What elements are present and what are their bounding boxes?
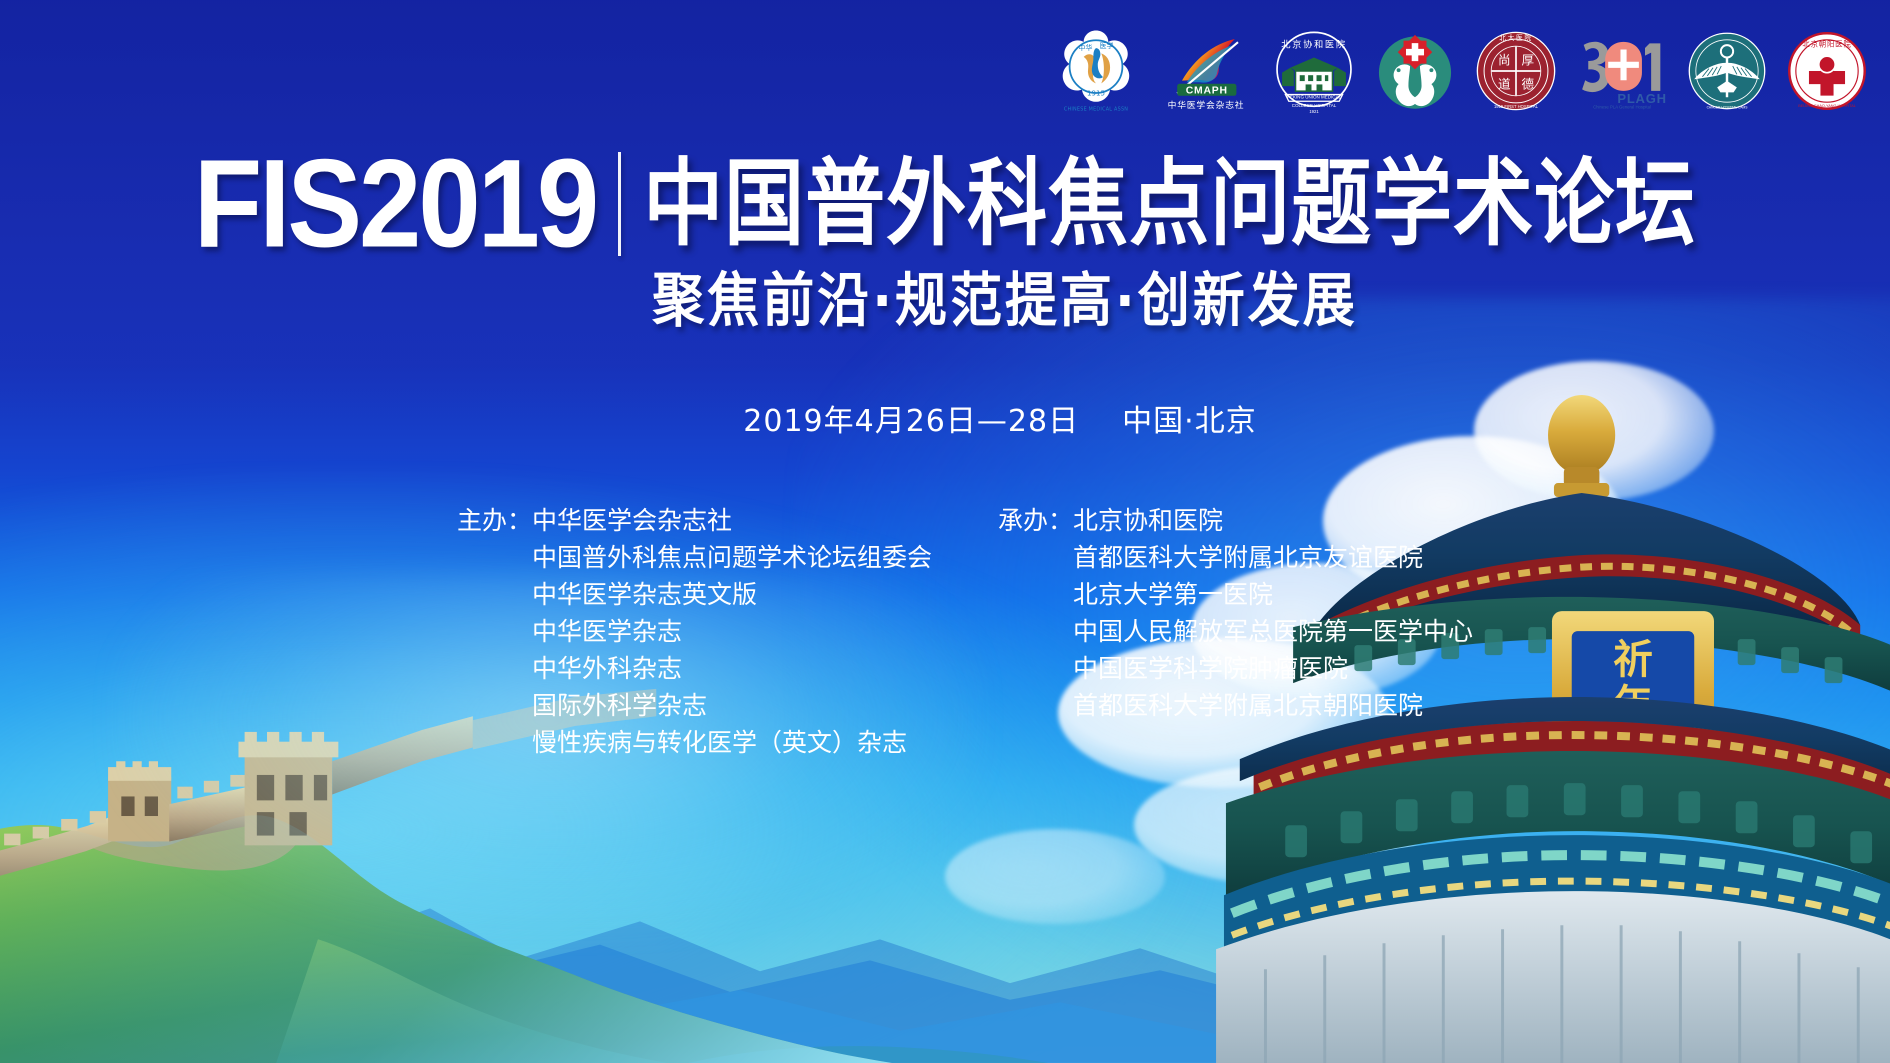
organizer-block: 主办： 中华医学会杂志社 中国普外科焦点问题学术论坛组委会 中华医学杂志英文版 …: [0, 502, 1890, 761]
list-item: 中华医学会杂志社: [532, 502, 932, 539]
svg-text:北京协和医院: 北京协和医院: [1281, 38, 1347, 50]
logo-beijing-friendship-hospital: [1374, 30, 1456, 112]
pkufh-icon: 尚 厚 道 德 北大医院 1915 FIRST HOSPITAL: [1474, 29, 1558, 113]
pumch-icon: 北京协和医院 PEKING UNION MEDICAL COLLEGE HOSP…: [1272, 27, 1356, 115]
list-item: 首都医科大学附属北京友谊医院: [1073, 539, 1473, 576]
conference-date-location: 2019年4月26日—28日 中国·北京: [0, 396, 1890, 440]
list-item: 首都医科大学附属北京朝阳医院: [1073, 687, 1473, 724]
conference-acronym: FIS2019: [194, 141, 618, 266]
svg-text:1915: 1915: [1087, 89, 1105, 98]
title-row: FIS2019 中国普外科焦点问题学术论坛: [0, 148, 1890, 260]
list-item: 中华医学杂志英文版: [532, 576, 932, 613]
sponsor-logo-strip: 1915 中华 医学 CHINESE MEDICAL ASSN: [1052, 27, 1868, 115]
svg-text:1915 FIRST HOSPITAL: 1915 FIRST HOSPITAL: [1494, 104, 1539, 109]
list-item: 国际外科学杂志: [532, 687, 932, 724]
logo-beijing-chaoyang-hospital: 北京朝阳医院 BEIJING CHAO-YANG HOSPITAL: [1786, 30, 1868, 112]
list-item: 中国普外科焦点问题学术论坛组委会: [532, 539, 932, 576]
list-item: 中国医学科学院肿瘤医院: [1073, 650, 1473, 687]
conference-title-cn: 中国普外科焦点问题学术论坛: [643, 157, 1696, 251]
logo-plagh-301: PLAGH Chinese PLA General Hospital: [1576, 30, 1668, 112]
chinese-medical-association-icon: 1915 中华 医学 CHINESE MEDICAL ASSN: [1052, 27, 1140, 115]
host-column: 主办： 中华医学会杂志社 中国普外科焦点问题学术论坛组委会 中华医学杂志英文版 …: [457, 502, 932, 761]
svg-text:道: 道: [1498, 77, 1511, 92]
list-item: 中华医学杂志: [532, 613, 932, 650]
list-item: 北京大学第一医院: [1073, 576, 1473, 613]
svg-text:PEKING UNION MEDICAL: PEKING UNION MEDICAL: [1287, 95, 1342, 100]
co-host-list: 北京协和医院 首都医科大学附属北京友谊医院 北京大学第一医院 中国人民解放军总医…: [1073, 502, 1473, 724]
conference-location: 中国·北京: [1122, 404, 1257, 439]
friendship-hospital-icon: [1374, 30, 1456, 112]
svg-text:Chinese PLA General Hospital: Chinese PLA General Hospital: [1593, 105, 1651, 110]
list-item: 中华外科杂志: [532, 650, 932, 687]
logo-peking-union-medical-college-hospital: 北京协和医院 PEKING UNION MEDICAL COLLEGE HOSP…: [1272, 27, 1356, 115]
svg-text:医学: 医学: [1100, 41, 1114, 50]
co-host-label: 承办：: [998, 502, 1073, 539]
list-item: 北京协和医院: [1073, 502, 1473, 539]
svg-text:BEIJING CHAO-YANG HOSPITAL: BEIJING CHAO-YANG HOSPITAL: [1798, 104, 1856, 108]
list-item: 中国人民解放军总医院第一医学中心: [1073, 613, 1473, 650]
svg-text:中华医学会杂志社: 中华医学会杂志社: [1168, 99, 1245, 111]
co-host-column: 承办： 北京协和医院 首都医科大学附属北京友谊医院 北京大学第一医院 中国人民解…: [998, 502, 1473, 761]
svg-text:北京朝阳医院: 北京朝阳医院: [1802, 39, 1851, 48]
svg-text:CHINESE MEDICAL ASSN: CHINESE MEDICAL ASSN: [1064, 107, 1128, 113]
svg-text:中华: 中华: [1078, 43, 1092, 52]
chaoyang-hospital-icon: 北京朝阳医院 BEIJING CHAO-YANG HOSPITAL: [1786, 30, 1868, 112]
logo-cmaph: CMAPH 中华医学会杂志社: [1158, 29, 1254, 113]
svg-text:COLLEGE HOSPITAL: COLLEGE HOSPITAL: [1292, 103, 1337, 108]
conference-slogan: 聚焦前沿·规范提高·创新发展: [0, 254, 1890, 338]
svg-text:1921: 1921: [1309, 109, 1319, 114]
logo-chinese-medical-association: 1915 中华 医学 CHINESE MEDICAL ASSN: [1052, 27, 1140, 115]
svg-text:CMAPH: CMAPH: [1186, 85, 1228, 96]
plagh-301-icon: PLAGH Chinese PLA General Hospital: [1576, 30, 1668, 112]
cmaph-icon: CMAPH 中华医学会杂志社: [1158, 29, 1254, 113]
host-list: 中华医学会杂志社 中国普外科焦点问题学术论坛组委会 中华医学杂志英文版 中华医学…: [532, 502, 932, 761]
svg-text:尚: 尚: [1498, 52, 1511, 67]
logo-peking-university-first-hospital: 尚 厚 道 德 北大医院 1915 FIRST HOSPITAL: [1474, 29, 1558, 113]
conference-date: 2019年4月26日—28日: [743, 404, 1079, 439]
host-label: 主办：: [457, 502, 532, 539]
svg-text:厚: 厚: [1521, 52, 1534, 67]
svg-text:北大医院: 北大医院: [1499, 33, 1533, 42]
svg-text:德: 德: [1521, 77, 1534, 92]
title-divider: [618, 152, 621, 256]
conference-poster: 祈 年 殿: [0, 0, 1890, 1063]
svg-text:CANCER HOSPITAL CAMS: CANCER HOSPITAL CAMS: [1707, 106, 1749, 110]
list-item: 慢性疾病与转化医学（英文）杂志: [532, 724, 932, 761]
logo-cancer-hospital-cams: CANCER HOSPITAL CAMS: [1686, 30, 1768, 112]
cancer-hospital-cams-icon: CANCER HOSPITAL CAMS: [1686, 30, 1768, 112]
